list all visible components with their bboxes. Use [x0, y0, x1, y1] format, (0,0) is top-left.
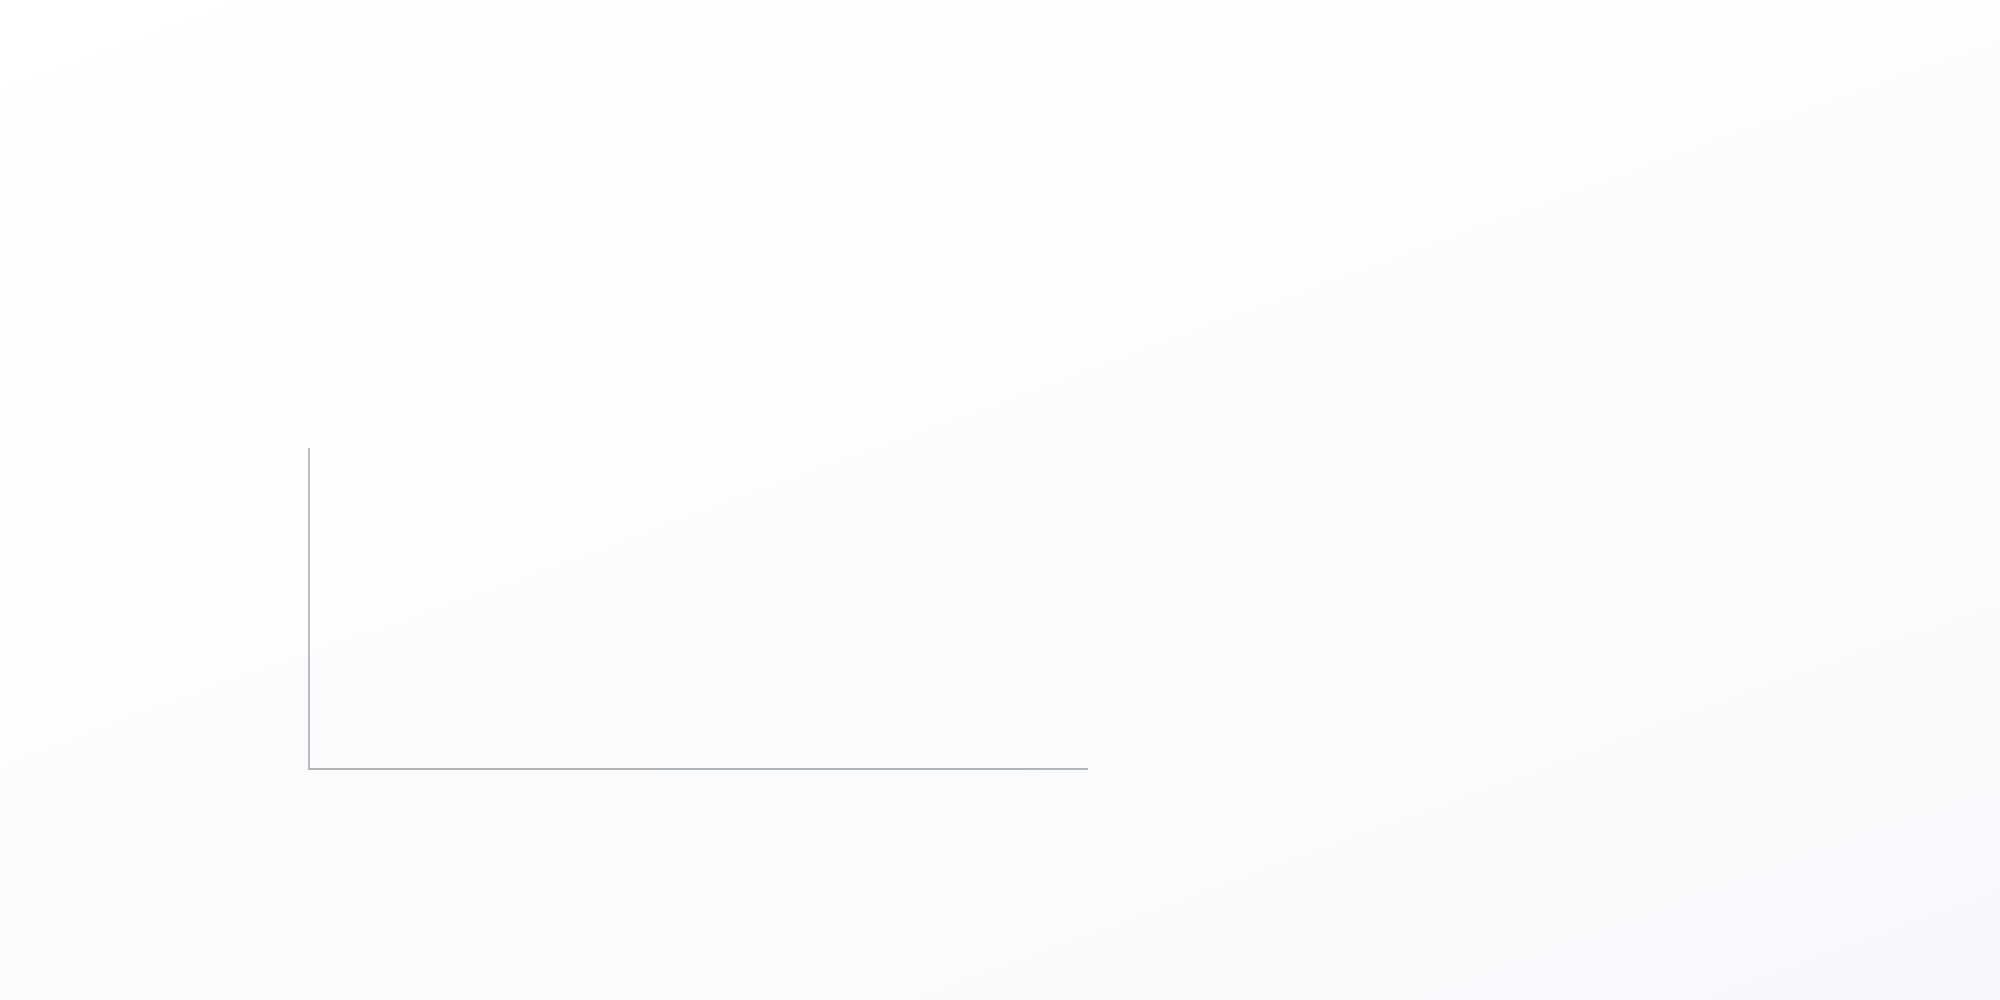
x-axis-line — [308, 768, 1088, 770]
bar-chart-plot-area — [308, 470, 1088, 770]
bar-groups — [310, 470, 1088, 768]
pie-chart — [1150, 430, 1970, 900]
pie-chart-graphic — [1150, 430, 1970, 900]
bar-chart — [208, 440, 1108, 880]
